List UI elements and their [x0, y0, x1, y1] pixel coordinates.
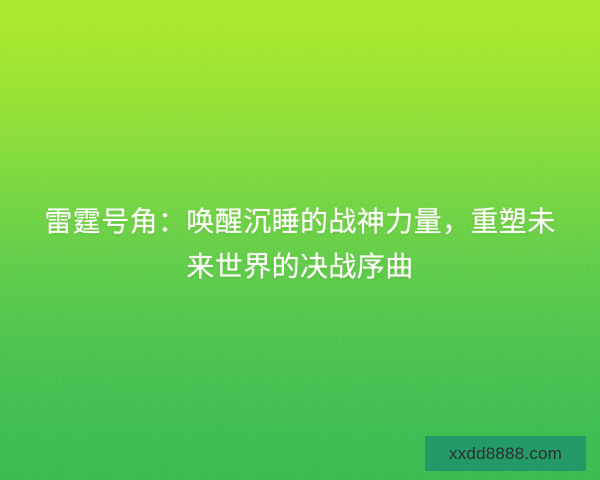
image-canvas: 雷霆号角：唤醒沉睡的战神力量，重塑未 来世界的决战序曲 xxdd8888.com	[0, 0, 600, 480]
title-block: 雷霆号角：唤醒沉睡的战神力量，重塑未 来世界的决战序曲	[22, 199, 578, 289]
watermark-label: xxdd8888.com	[449, 445, 562, 462]
page-title: 雷霆号角：唤醒沉睡的战神力量，重塑未 来世界的决战序曲	[22, 199, 578, 289]
watermark-badge: xxdd8888.com	[425, 436, 586, 471]
